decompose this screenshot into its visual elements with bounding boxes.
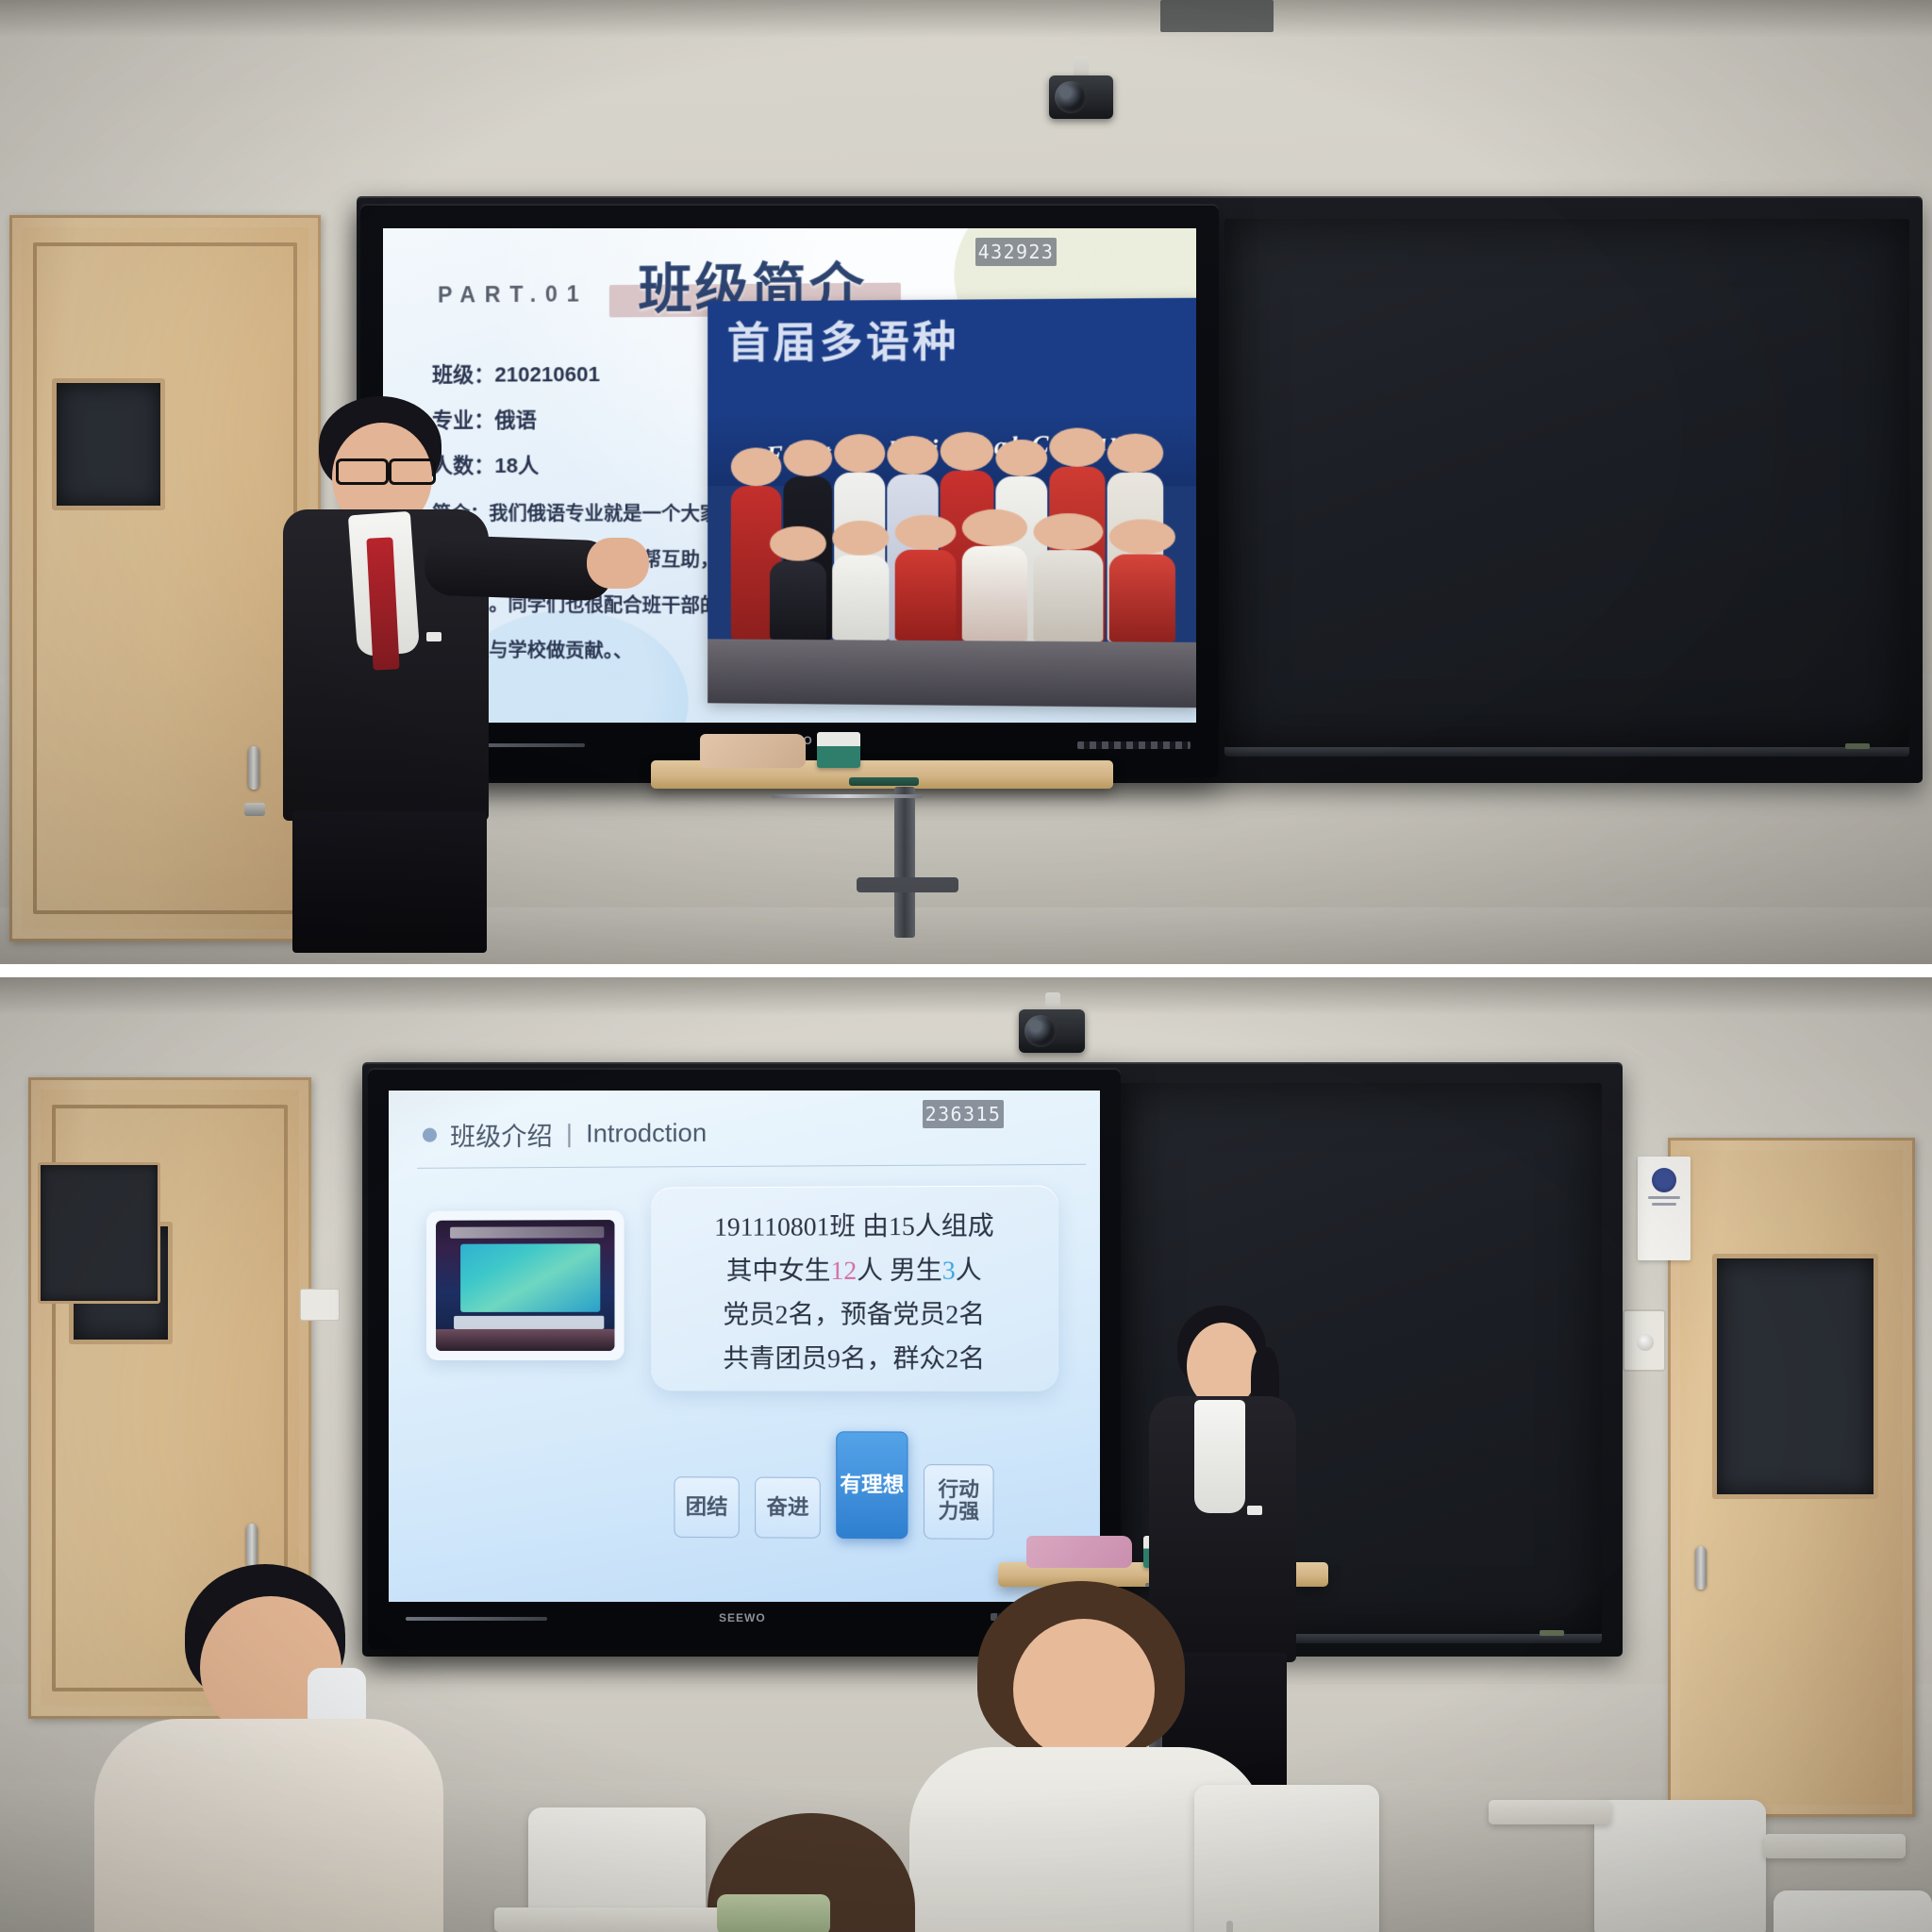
classroom-chair-3[interactable] bbox=[1594, 1800, 1766, 1932]
door-handle-top[interactable] bbox=[248, 746, 259, 790]
tag-0[interactable]: 团结 bbox=[674, 1476, 739, 1538]
wooden-door-left-top[interactable] bbox=[9, 215, 321, 941]
card-segment: 人 bbox=[956, 1256, 982, 1285]
wall-panel-left-bottom bbox=[38, 1162, 160, 1304]
ceiling-shadow-top bbox=[0, 0, 1932, 38]
slide2-header-cn: 班级介绍 bbox=[450, 1116, 553, 1154]
slide-info-class: 班级：210210601 bbox=[432, 358, 600, 389]
door-lock-top[interactable] bbox=[244, 803, 265, 816]
tag-2[interactable]: 有理想 bbox=[836, 1431, 908, 1539]
door-handle-right-bottom[interactable] bbox=[1695, 1546, 1707, 1590]
door-view-window-top bbox=[52, 378, 165, 510]
camera-lens-icon bbox=[1055, 81, 1087, 113]
card-line-2: 其中女生12人 男生3人 bbox=[651, 1249, 1058, 1288]
card-segment: 12 bbox=[830, 1257, 857, 1286]
wall-poster-bottom bbox=[1638, 1157, 1690, 1260]
door-handle-bottom[interactable] bbox=[246, 1524, 258, 1567]
panel-gutter bbox=[0, 964, 1932, 977]
card-segment: 党员2名，预备党员2名 bbox=[723, 1300, 985, 1329]
class-group-photo: 首届多语种 First Multilingual Culture bbox=[708, 298, 1196, 708]
chair-seat-green[interactable] bbox=[717, 1894, 830, 1932]
slide-part-label: PART.01 bbox=[438, 281, 588, 308]
slide2-tag-row: 团结 奋进 有理想 行动 力强 bbox=[674, 1431, 993, 1540]
screenshot-root: PART.01 班级简介 班级：210210601 专业：俄语 人数：18人 简… bbox=[0, 0, 1932, 1932]
ceiling-vent-top bbox=[1160, 0, 1274, 32]
slide-introduction: 班级介绍 | Introdction bbox=[389, 1091, 1100, 1602]
name-badge-top bbox=[426, 632, 441, 641]
tablet-arm-desk-3[interactable] bbox=[1764, 1834, 1906, 1858]
ceiling-camera-top bbox=[1028, 57, 1141, 160]
podium-foot-top bbox=[857, 877, 958, 892]
wall-outlet-bottom[interactable] bbox=[300, 1289, 340, 1321]
card-segment: 3 bbox=[942, 1256, 956, 1285]
audience-student-left bbox=[94, 1564, 434, 1932]
card-segment: 共青团员9名，群众2名 bbox=[723, 1344, 985, 1374]
card-segment: 人 男生 bbox=[857, 1256, 942, 1285]
podium-stand-top bbox=[894, 787, 915, 938]
desk-marker-top bbox=[849, 777, 919, 786]
door-view-window-right-bottom bbox=[1712, 1254, 1878, 1499]
card-line-1: 191110801班 由15人组成 bbox=[651, 1205, 1058, 1243]
card-segment: 其中女生 bbox=[726, 1257, 831, 1286]
tag-3[interactable]: 行动 力强 bbox=[924, 1464, 994, 1540]
tablet-arm-desk-1[interactable] bbox=[494, 1907, 730, 1932]
display-brand-logo-bottom: SEEWO bbox=[719, 1611, 766, 1624]
card-segment: 191110801班 由15人组成 bbox=[714, 1211, 994, 1241]
slide2-header: 班级介绍 | Introdction bbox=[423, 1115, 707, 1154]
desk-cloth-bottom bbox=[1026, 1536, 1132, 1568]
poster-logo-icon bbox=[1652, 1168, 1676, 1192]
card-line-4: 共青团员9名，群众2名 bbox=[651, 1338, 1058, 1375]
ceiling-shadow-bottom bbox=[0, 977, 1932, 1015]
presenter-male-top bbox=[283, 396, 679, 953]
photo-panel-top: PART.01 班级简介 班级：210210601 专业：俄语 人数：18人 简… bbox=[0, 0, 1932, 964]
osd-number-badge-top: 432923 bbox=[975, 238, 1057, 266]
desk-eraser-top bbox=[817, 732, 860, 768]
chalk-tray-top bbox=[1224, 747, 1909, 757]
wall-control-panel-bottom[interactable] bbox=[1623, 1309, 1666, 1372]
camera-lens-icon-bottom bbox=[1024, 1015, 1057, 1047]
desk-cloth-top bbox=[700, 734, 806, 768]
card-line-3: 党员2名，预备党员2名 bbox=[651, 1293, 1058, 1331]
bullet-dot-icon bbox=[423, 1128, 437, 1142]
classroom-chair-4[interactable] bbox=[1774, 1890, 1932, 1932]
osd-number-badge-bottom: 236315 bbox=[923, 1100, 1004, 1128]
tray-clip-top bbox=[1845, 743, 1870, 749]
slide2-header-en: Introdction bbox=[586, 1119, 707, 1149]
desk-pointer-top bbox=[772, 794, 923, 798]
tablet-arm-desk-2[interactable] bbox=[1489, 1800, 1611, 1824]
glasses-icon-top bbox=[336, 458, 389, 485]
classroom-chair-2[interactable] bbox=[1194, 1785, 1379, 1932]
slide2-info-card: 191110801班 由15人组成 其中女生12人 男生3人 党员2名，预备党员… bbox=[651, 1185, 1058, 1391]
display-screen-bottom[interactable]: 班级介绍 | Introdction bbox=[389, 1091, 1100, 1602]
wooden-door-right-bottom[interactable] bbox=[1668, 1138, 1915, 1817]
name-badge-bottom bbox=[1247, 1506, 1262, 1515]
tray-clip-bottom bbox=[1540, 1630, 1564, 1636]
slide2-thumbnail bbox=[426, 1210, 625, 1360]
slide2-header-rule bbox=[417, 1164, 1086, 1169]
display-ports-top bbox=[1077, 741, 1191, 749]
slide2-header-separator: | bbox=[566, 1120, 573, 1149]
photo-panel-bottom: 班级介绍 | Introdction bbox=[0, 977, 1932, 1932]
tag-1[interactable]: 奋进 bbox=[755, 1477, 821, 1539]
blackboard-right-top bbox=[1224, 219, 1909, 747]
group-photo-banner-cn: 首届多语种 bbox=[727, 307, 1180, 371]
